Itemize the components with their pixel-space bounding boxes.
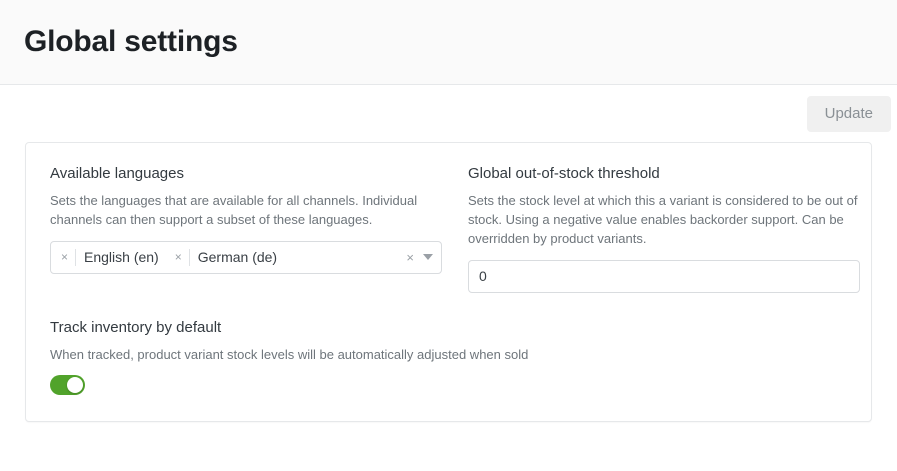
track-inventory-label: Track inventory by default	[50, 319, 847, 337]
settings-card: Available languages Sets the languages t…	[25, 142, 872, 422]
language-chip[interactable]: × English (en)	[59, 249, 159, 266]
select-actions: ×	[406, 251, 435, 264]
chip-label: German (de)	[198, 250, 277, 264]
out-of-stock-threshold-label: Global out-of-stock threshold	[468, 165, 860, 183]
page-header: Global settings	[0, 0, 897, 85]
track-inventory-description: When tracked, product variant stock leve…	[50, 346, 847, 365]
language-chip-list: × English (en) × German (de)	[59, 249, 406, 266]
action-bar: Update	[0, 85, 897, 142]
update-button[interactable]: Update	[807, 96, 891, 132]
page-title: Global settings	[24, 25, 238, 59]
toggle-knob	[67, 377, 83, 393]
available-languages-label: Available languages	[50, 165, 442, 183]
track-inventory-field: Track inventory by default When tracked,…	[50, 319, 847, 396]
language-chip[interactable]: × German (de)	[173, 249, 277, 266]
chip-remove-icon[interactable]: ×	[59, 251, 75, 263]
chip-divider	[75, 249, 76, 266]
chip-label: English (en)	[84, 250, 159, 264]
out-of-stock-threshold-field: Global out-of-stock threshold Sets the s…	[468, 165, 860, 293]
out-of-stock-threshold-input[interactable]	[468, 260, 860, 293]
card-top-row: Available languages Sets the languages t…	[50, 165, 847, 293]
chip-divider	[189, 249, 190, 266]
clear-selection-icon[interactable]: ×	[406, 251, 414, 264]
track-inventory-toggle[interactable]	[50, 375, 85, 395]
available-languages-field: Available languages Sets the languages t…	[50, 165, 442, 293]
chip-remove-icon[interactable]: ×	[173, 251, 189, 263]
out-of-stock-threshold-description: Sets the stock level at which this a var…	[468, 192, 860, 249]
chevron-down-icon[interactable]	[423, 254, 433, 260]
available-languages-description: Sets the languages that are available fo…	[50, 192, 442, 230]
available-languages-select[interactable]: × English (en) × German (de) ×	[50, 241, 442, 274]
